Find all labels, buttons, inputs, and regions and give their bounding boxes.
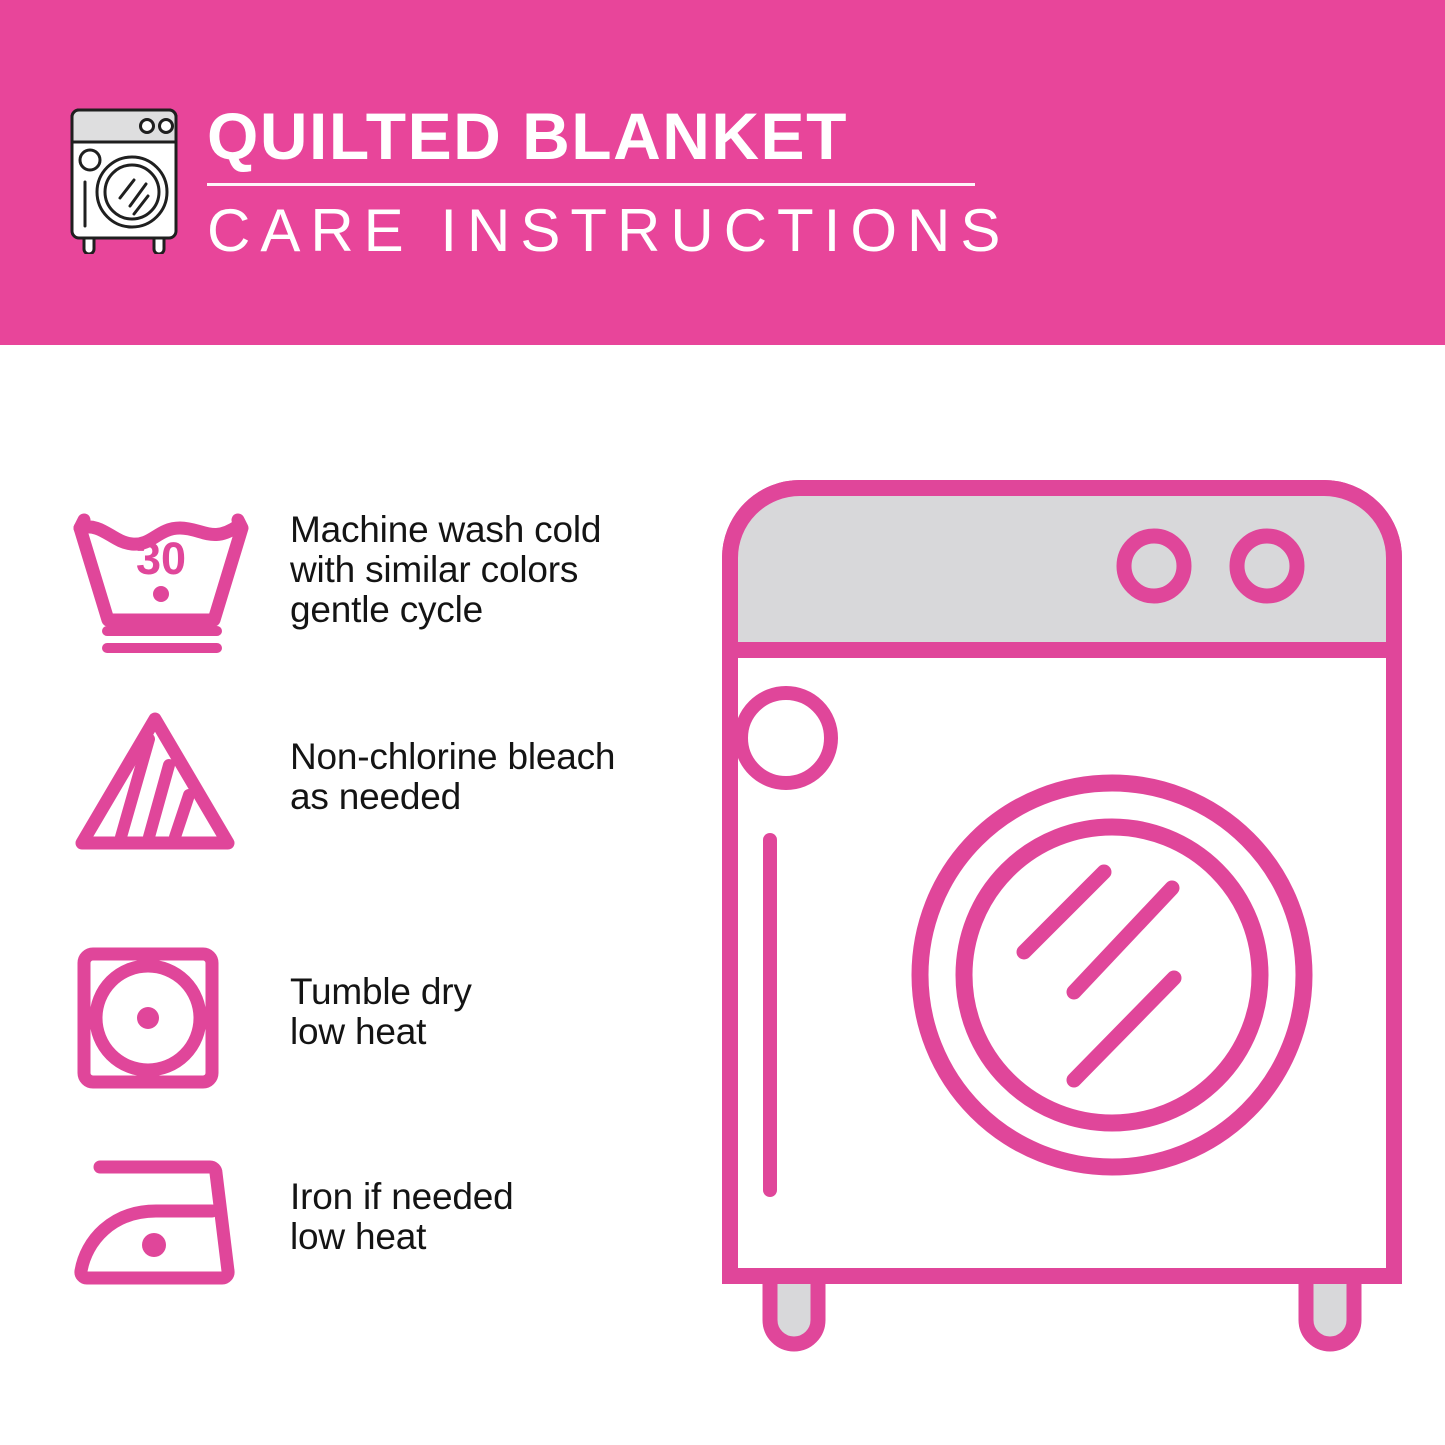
care-label-iron: Iron if needed low heat bbox=[290, 1177, 513, 1257]
washing-machine-icon bbox=[62, 104, 194, 254]
header-banner: QUILTED BLANKET CARE INSTRUCTIONS bbox=[0, 0, 1445, 345]
care-instructions-page: QUILTED BLANKET CARE INSTRUCTIONS 30 Mac… bbox=[0, 0, 1445, 1445]
iron-icon bbox=[62, 1145, 262, 1305]
page-title: QUILTED BLANKET bbox=[207, 103, 997, 169]
care-label-tumble-dry: Tumble dry low heat bbox=[290, 972, 472, 1052]
header-title-block: QUILTED BLANKET CARE INSTRUCTIONS bbox=[207, 103, 997, 262]
care-label-bleach: Non-chlorine bleach as needed bbox=[290, 737, 615, 817]
bleach-triangle-icon bbox=[62, 705, 262, 865]
wash-temperature-value: 30 bbox=[136, 533, 186, 584]
title-divider bbox=[207, 183, 975, 186]
care-label-wash: Machine wash cold with similar colors ge… bbox=[290, 510, 601, 630]
page-subtitle: CARE INSTRUCTIONS bbox=[207, 199, 997, 262]
tumble-dry-icon bbox=[62, 940, 262, 1100]
wash-tub-icon: 30 bbox=[62, 498, 262, 658]
washing-machine-illustration bbox=[722, 480, 1402, 1360]
